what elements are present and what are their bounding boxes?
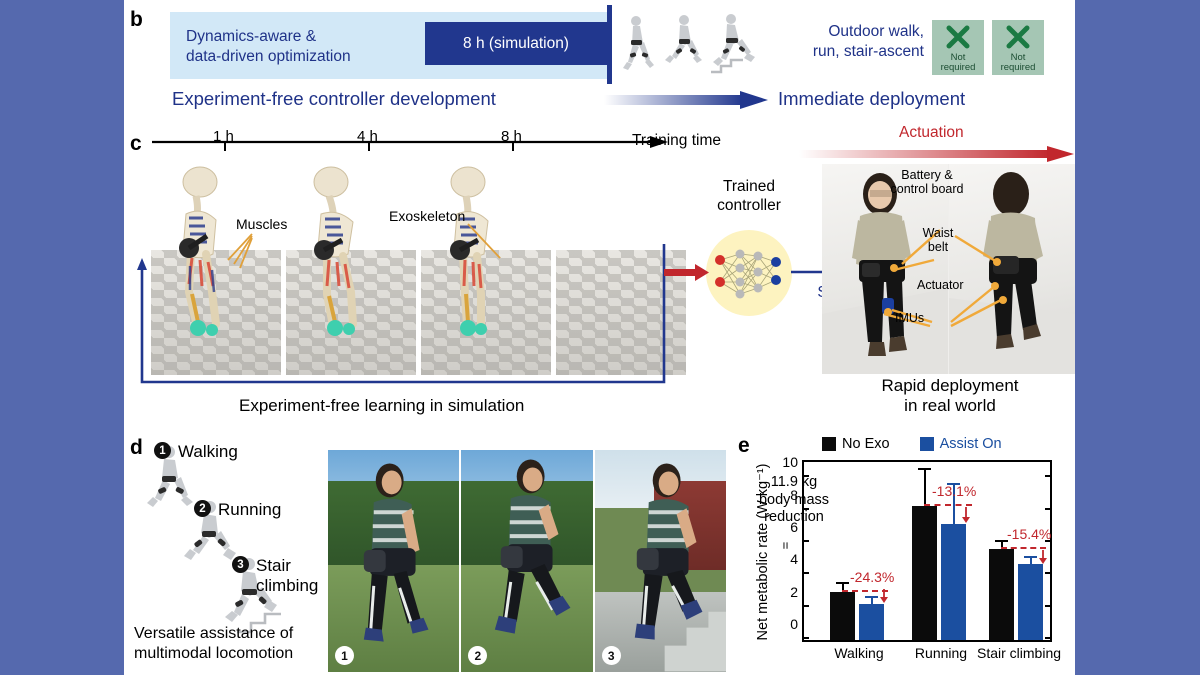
panel-d: d [124, 428, 734, 675]
list-number-2: 2 [194, 500, 211, 517]
errorcap-running-no-exo [918, 468, 931, 470]
errorbar-walking-assist-on [871, 598, 873, 604]
figure-page: b Dynamics-aware & data-driven optimizat… [124, 0, 1075, 675]
imus-annotation: IMUs [895, 311, 924, 325]
ytick-mark-4 [804, 572, 809, 574]
down-arrow-icon [878, 589, 890, 603]
down-arrow-icon [1037, 550, 1049, 564]
panel-c: c 1 h 4 h 8 h Training time [124, 118, 1075, 428]
photo-number-3: 3 [602, 646, 621, 665]
ytick-mark-2 [804, 605, 809, 607]
bar-walking-no-exo [830, 592, 855, 640]
right-arrow-icon [799, 146, 1075, 162]
list-label-stair-climbing: Stair climbing [256, 556, 318, 596]
legend-swatch-assist-on [920, 437, 934, 451]
right-arrow-icon [604, 89, 769, 111]
bar-running-assist-on [941, 524, 966, 641]
ytick-label-10: 10 [782, 454, 798, 470]
photo-running: 2 [461, 450, 592, 672]
panel-e-letter: e [738, 434, 750, 458]
errorcap-walking-assist-on [865, 596, 878, 598]
pct-label-stair: -15.4% [1007, 526, 1051, 542]
down-arrow-icon [960, 507, 972, 523]
bar-running-no-exo [912, 506, 937, 640]
panel-d-letter: d [130, 436, 143, 460]
right-margin-band [1075, 0, 1200, 675]
actuator-annotation: Actuator [917, 278, 964, 292]
immediate-deployment-label: Immediate deployment [778, 88, 965, 110]
list-number-3: 3 [232, 556, 249, 573]
neural-network-icon [706, 230, 792, 316]
chart-legend: No Exo Assist On [822, 436, 1002, 452]
body-mass-reduction-note: 11.9 kg body mass reduction [748, 474, 840, 527]
locomotion-photos: 1 [328, 450, 726, 672]
list-item-stair-climbing: 3 Stair climbing [232, 556, 342, 596]
ytick-mark-r-8 [1045, 508, 1050, 510]
ytick-label-2: 2 [790, 584, 798, 600]
bar-stair-no-exo [989, 549, 1014, 640]
controller-development-label: Experiment-free controller development [172, 88, 496, 110]
optimization-label: Dynamics-aware & data-driven optimizatio… [186, 27, 406, 68]
panel-c-letter: c [130, 132, 142, 156]
list-item-running: 2 Running [194, 500, 281, 520]
battery-annotation: Battery & control board [877, 168, 977, 197]
photo-walking: 1 [328, 450, 459, 672]
ytick-mark-r-2 [1045, 605, 1050, 607]
trained-controller-label: Trained controller [689, 178, 809, 215]
locomotion-figures-icon [619, 12, 769, 78]
list-label-running: Running [218, 500, 281, 520]
legend-label-assist-on: Assist On [940, 436, 1002, 452]
not-required-box-1: Not required [932, 20, 984, 75]
list-item-walking: 1 Walking [154, 442, 238, 462]
walker-photo-subject [328, 450, 459, 672]
legend-item-assist-on: Assist On [920, 436, 1002, 452]
outdoor-activities-label: Outdoor walk, run, stair-ascent [774, 22, 924, 63]
errorcap-stair-assist-on [1024, 556, 1037, 558]
list-label-walking: Walking [178, 442, 238, 462]
ytick-label-0: 0 [790, 616, 798, 632]
cross-icon [943, 22, 973, 52]
ytick-mark-r-0 [1045, 637, 1050, 639]
ytick-label-4: 4 [790, 551, 798, 567]
not-required-label-2: Not required [1001, 53, 1036, 73]
axis-tick-4h: 4 h [357, 128, 378, 145]
legend-item-no-exo: No Exo [822, 436, 890, 452]
ytick-mark-6 [804, 540, 809, 542]
feedback-loop-arrow [136, 240, 676, 390]
bar-walking-assist-on [859, 604, 884, 640]
reference-line-running [924, 504, 972, 506]
stair-climber-photo-subject [595, 450, 726, 672]
simulation-caption: Experiment-free learning in simulation [239, 396, 524, 416]
list-number-1: 1 [154, 442, 171, 459]
legend-swatch-no-exo [822, 437, 836, 451]
xtick-label-stair-climbing: Stair climbing [977, 645, 1061, 661]
runner-photo-subject [461, 450, 592, 672]
panel-b: b Dynamics-aware & data-driven optimizat… [124, 0, 1075, 118]
red-input-arrow-icon [664, 262, 710, 282]
ytick-mark-0 [804, 637, 809, 639]
panel-b-letter: b [130, 8, 143, 32]
axis-tick-8h: 8 h [501, 128, 522, 145]
training-time-label: Training time [632, 132, 721, 150]
actuation-label: Actuation [899, 124, 964, 142]
legend-label-no-exo: No Exo [842, 436, 890, 452]
exoskeleton-annotation: Exoskeleton [389, 208, 465, 224]
figure-canvas: b Dynamics-aware & data-driven optimizat… [0, 0, 1200, 675]
not-required-label-1: Not required [941, 53, 976, 73]
ytick-mark-r-4 [1045, 572, 1050, 574]
photo-number-1: 1 [335, 646, 354, 665]
panel-d-caption: Versatile assistance of multimodal locom… [134, 624, 334, 665]
waist-belt-annotation: Waist belt [912, 226, 964, 255]
equals-sign: = [778, 542, 793, 550]
errorbar-stair-assist-on [1030, 558, 1032, 564]
ytick-mark-r-10 [1045, 475, 1050, 477]
not-required-box-2: Not required [992, 20, 1044, 75]
pipeline-endcap [607, 5, 612, 84]
errorcap-walking-no-exo [836, 582, 849, 584]
errorbar-running-no-exo [924, 470, 926, 506]
pct-label-running: -13.1% [932, 483, 976, 499]
xtick-label-running: Running [915, 645, 967, 661]
xtick-label-walking: Walking [834, 645, 883, 661]
bar-stair-assist-on [1018, 564, 1043, 640]
rapid-deployment-caption: Rapid deployment in real world [830, 376, 1070, 417]
panel-e: e No Exo Assist On Net metabolic rate (W… [734, 428, 1075, 675]
left-margin-band [0, 0, 124, 675]
simulation-duration-bar: 8 h (simulation) [425, 22, 607, 65]
photo-stair-ascent: 3 [595, 450, 726, 672]
axis-tick-1h: 1 h [213, 128, 234, 145]
cross-icon [1003, 22, 1033, 52]
pct-label-walking: -24.3% [850, 569, 894, 585]
